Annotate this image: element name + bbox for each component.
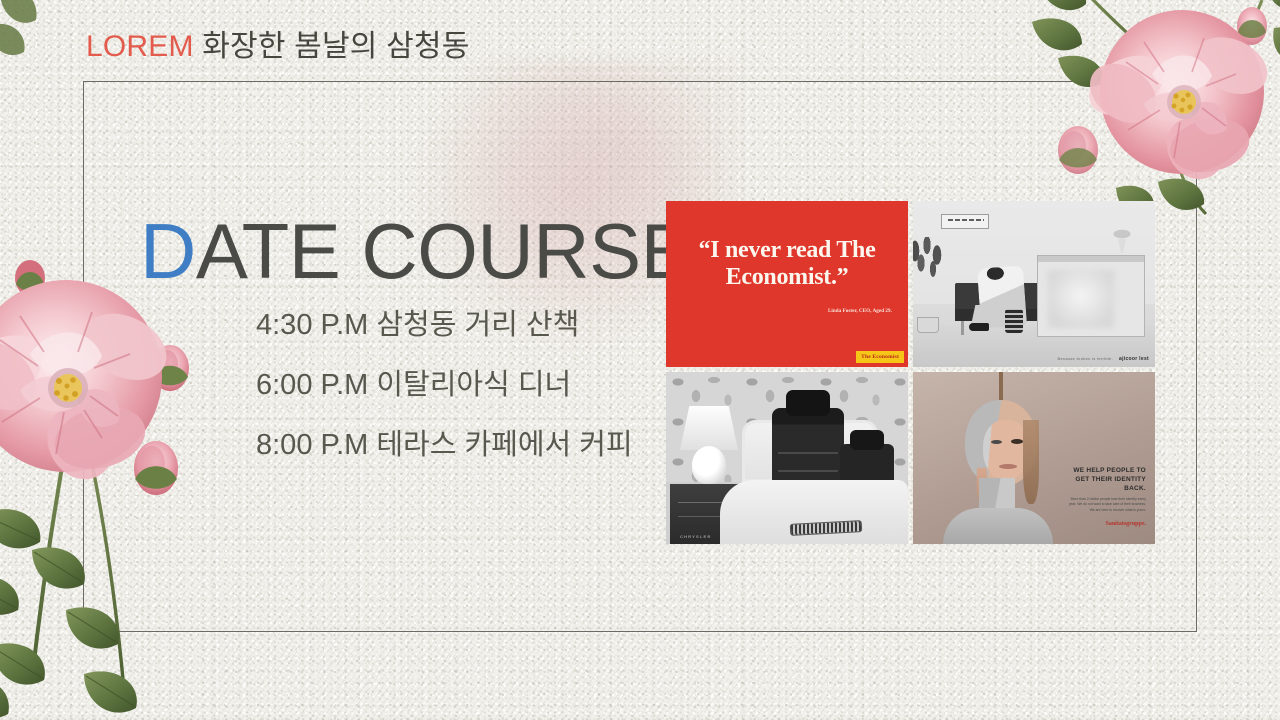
- gallery-image-bedroom-ad: CHRYSLER: [666, 372, 908, 544]
- gallery-image-economist-ad: “I never read The Economist.” Linda Fost…: [666, 201, 908, 367]
- waiting-room-wall-sign: [941, 214, 989, 229]
- person-shoe: [969, 323, 989, 331]
- identity-ad-body: More than 2 million people lose their id…: [1068, 497, 1146, 512]
- economist-logo-badge: The Economist: [856, 351, 904, 363]
- schedule-list: 4:30 P.M 삼청동 거리 산책 6:00 P.M 이탈리아식 디너 8:0…: [256, 303, 646, 467]
- list-item: 8:00 P.M 테라스 카페에서 커피: [256, 423, 646, 467]
- economist-ad-canvas: “I never read The Economist.” Linda Fost…: [666, 201, 908, 367]
- waiting-room-credit: Because broken is terrible.ajicoor lest: [1058, 356, 1149, 362]
- mannequin-shoulder: [943, 508, 1053, 544]
- mannequin-eye: [991, 440, 1002, 444]
- identity-ad-copy: WE HELP PEOPLE TO GET THEIR IDENTITY BAC…: [1068, 467, 1146, 527]
- image-gallery-grid: “I never read The Economist.” Linda Fost…: [666, 201, 1155, 546]
- identity-ad-photo: WE HELP PEOPLE TO GET THEIR IDENTITY BAC…: [913, 372, 1155, 544]
- table-lamp-shade: [680, 406, 738, 450]
- economist-quote-text: “I never read The Economist.”: [666, 237, 908, 291]
- identity-ad-brand: Sanitatsgruppe.: [1068, 521, 1146, 527]
- vase-with-flowers: [1107, 229, 1137, 255]
- slide-canvas: LOREM 화장한 봄날의 삼청동 DATE COURSE 4:30 P.M 삼…: [0, 0, 1280, 720]
- title-first-letter: D: [140, 207, 196, 295]
- header-subtitle: 화장한 봄날의 삼청동: [202, 30, 469, 63]
- chrysler-brand-text: CHRYSLER: [680, 534, 711, 539]
- frosted-glass-counter: [1037, 255, 1145, 337]
- economist-attribution-text: Linda Foster, CEO, Aged 29.: [828, 309, 892, 314]
- bedroom-photo: CHRYSLER: [666, 372, 908, 544]
- potted-plant-icon: [913, 237, 949, 309]
- title-rest: ATE COURSE: [196, 207, 692, 295]
- decorative-rose-bottom-left: [0, 250, 242, 720]
- slide-header: LOREM 화장한 봄날의 삼청동: [86, 21, 470, 65]
- header-lorem-label: LOREM: [86, 30, 194, 63]
- second-person-sandals: [1005, 309, 1023, 333]
- gallery-image-identity-ad: WE HELP PEOPLE TO GET THEIR IDENTITY BAC…: [913, 372, 1155, 544]
- waiting-room-photo: Because broken is terrible.ajicoor lest: [913, 201, 1155, 367]
- hair-strand: [1023, 420, 1039, 504]
- list-item: 6:00 P.M 이탈리아식 디너: [256, 363, 646, 407]
- decorative-rose-top-right: [1030, 0, 1280, 224]
- identity-ad-headline: WE HELP PEOPLE TO GET THEIR IDENTITY BAC…: [1068, 467, 1146, 493]
- waiting-room-credit-small: Because broken is terrible.: [1058, 356, 1113, 361]
- list-item: 4:30 P.M 삼청동 거리 산책: [256, 303, 646, 347]
- human-eye: [1011, 439, 1023, 444]
- plant-pot: [917, 317, 939, 333]
- waiting-room-credit-brand: ajicoor lest: [1119, 356, 1149, 362]
- table-lamp-base: [692, 446, 726, 484]
- lips: [999, 464, 1017, 469]
- page-title: DATE COURSE: [140, 212, 692, 290]
- gallery-image-waiting-room: Because broken is terrible.ajicoor lest: [913, 201, 1155, 367]
